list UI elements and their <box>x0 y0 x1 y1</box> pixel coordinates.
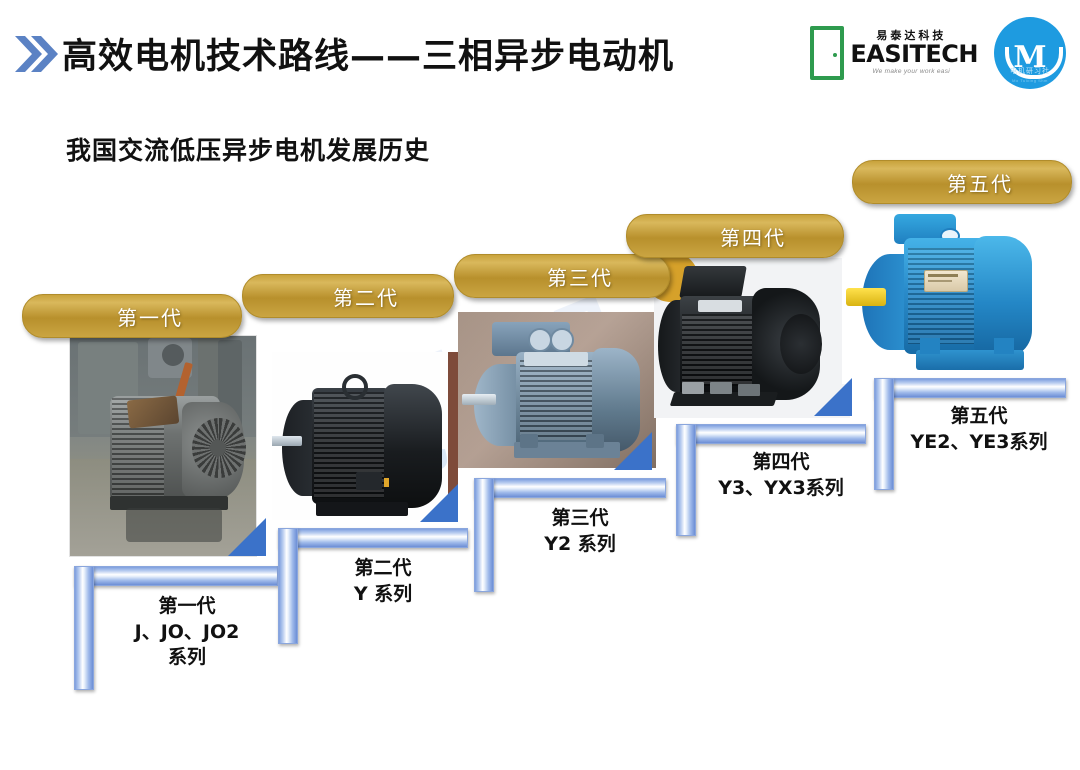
progression-arrowhead-icon <box>420 484 458 522</box>
progression-arrowhead-icon <box>814 378 852 416</box>
institute-logo-cn-sub: Mo Tuicing Shm <box>994 78 1066 83</box>
generation-caption-3: 第三代Y2 系列 <box>496 506 664 557</box>
generation-badge-5[interactable]: 第五代 <box>852 160 1072 204</box>
callout-top-bar <box>74 566 278 586</box>
generation-callout-2: 第二代Y 系列 <box>278 528 468 644</box>
callout-top-bar <box>278 528 468 548</box>
generation-caption-2: 第二代Y 系列 <box>300 556 466 607</box>
callout-top-bar <box>474 478 666 498</box>
progression-arrowhead-icon <box>228 518 266 556</box>
callout-left-bar <box>74 566 94 690</box>
logo-group: 易泰达科技 EASITECH We make your work easi M … <box>810 14 1066 92</box>
generation-badge-4[interactable]: 第四代 <box>626 214 844 258</box>
institute-logo: M 电机研习社 Mo Tuicing Shm <box>994 17 1066 89</box>
generation-callout-3: 第三代Y2 系列 <box>474 478 666 592</box>
generation-badge-4-label: 第四代 <box>684 222 786 251</box>
generation-caption-5: 第五代YE2、YE3系列 <box>894 404 1064 455</box>
callout-left-bar <box>278 528 298 644</box>
callout-left-bar <box>676 424 696 536</box>
generation-callout-5: 第五代YE2、YE3系列 <box>874 378 1066 490</box>
generation-badge-1-label: 第一代 <box>81 302 183 331</box>
callout-left-bar <box>874 378 894 490</box>
easitech-logo: 易泰达科技 EASITECH We make your work easi <box>810 24 978 82</box>
generation-badge-5-label: 第五代 <box>911 168 1013 197</box>
double-chevron-right-icon <box>12 33 58 75</box>
generation-badge-3-label: 第三代 <box>511 262 613 291</box>
generation-caption-1: 第一代J、JO、JO2系列 <box>98 594 276 671</box>
generation-badge-3[interactable]: 第三代 <box>454 254 670 298</box>
easitech-logo-en-name: EASITECH <box>850 42 978 66</box>
generation-caption-4: 第四代Y3、YX3系列 <box>698 450 864 501</box>
generation-badge-2-label: 第二代 <box>297 282 399 311</box>
generation-badge-2[interactable]: 第二代 <box>242 274 454 318</box>
door-icon <box>810 26 844 80</box>
slide-canvas: 高效电机技术路线——三相异步电动机 易泰达科技 EASITECH We make… <box>0 0 1080 770</box>
progression-arrowhead-icon <box>614 432 652 470</box>
easitech-logo-tagline: We make your work easi <box>872 69 978 76</box>
institute-logo-cn-name: 电机研习社 <box>994 66 1066 76</box>
generation-callout-1: 第一代J、JO、JO2系列 <box>74 566 278 690</box>
callout-left-bar <box>474 478 494 592</box>
fifth-generation-motor-photo <box>842 208 1042 384</box>
page-title: 高效电机技术路线——三相异步电动机 <box>62 28 674 79</box>
generation-callout-4: 第四代Y3、YX3系列 <box>676 424 866 536</box>
callout-top-bar <box>676 424 866 444</box>
slide-header: 高效电机技术路线——三相异步电动机 易泰达科技 EASITECH We make… <box>0 0 1080 104</box>
generation-badge-1[interactable]: 第一代 <box>22 294 242 338</box>
section-subtitle: 我国交流低压异步电机发展历史 <box>66 131 430 167</box>
callout-top-bar <box>874 378 1066 398</box>
